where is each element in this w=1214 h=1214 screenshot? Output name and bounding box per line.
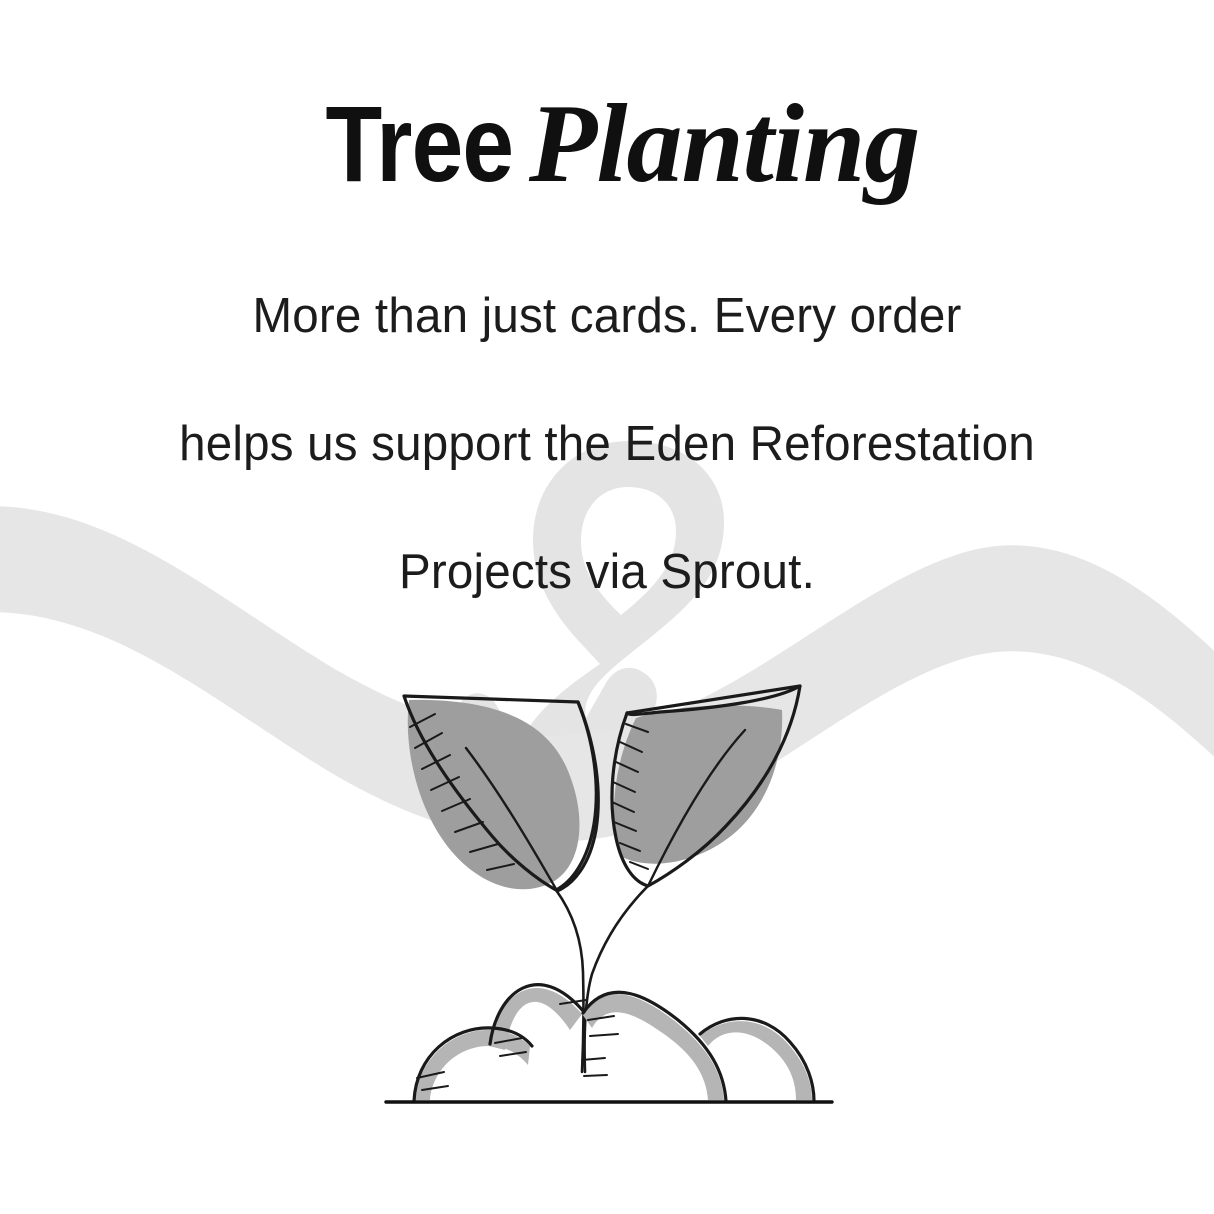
left-leaf (404, 696, 598, 891)
seedling-sprout-illustration (0, 0, 1214, 1214)
stem (556, 886, 648, 1072)
tree-planting-graphic: TreePlanting More than just cards. Every… (0, 0, 1214, 1214)
soil-mound (414, 985, 814, 1101)
right-leaf (612, 686, 800, 886)
